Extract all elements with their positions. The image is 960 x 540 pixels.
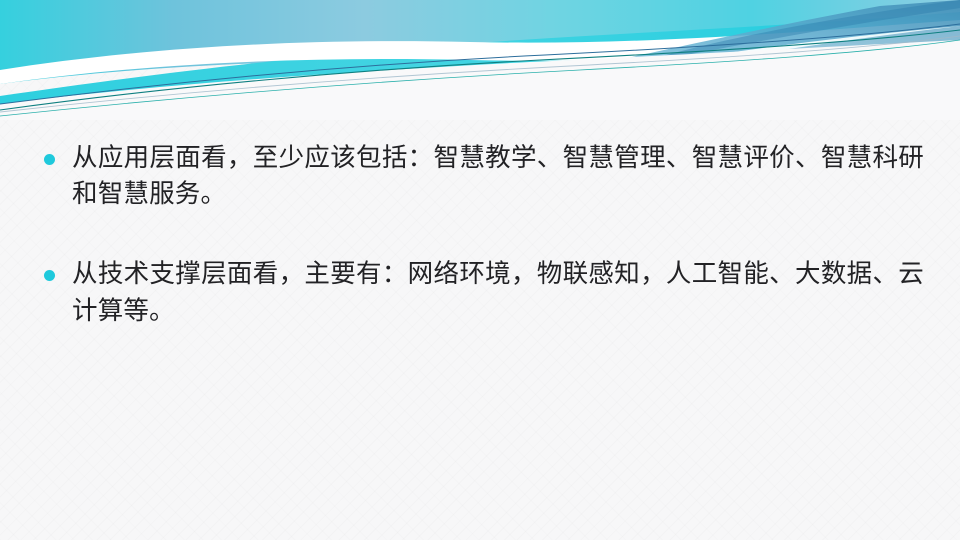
bullet-text: 从技术支撑层面看，主要有：网络环境，物联感知，人工智能、大数据、云计算等。 xyxy=(72,256,924,328)
round-bullet-icon xyxy=(44,270,55,281)
round-bullet-icon xyxy=(44,154,55,165)
slide-canvas: 从应用层面看，至少应该包括：智慧教学、智慧管理、智慧评价、智慧科研和智慧服务。 … xyxy=(0,0,960,540)
bullet-text: 从应用层面看，至少应该包括：智慧教学、智慧管理、智慧评价、智慧科研和智慧服务。 xyxy=(72,140,924,212)
list-item: 从技术支撑层面看，主要有：网络环境，物联感知，人工智能、大数据、云计算等。 xyxy=(44,256,924,328)
list-item: 从应用层面看，至少应该包括：智慧教学、智慧管理、智慧评价、智慧科研和智慧服务。 xyxy=(44,140,924,212)
decorative-wave-banner xyxy=(0,0,960,120)
slide-body: 从应用层面看，至少应该包括：智慧教学、智慧管理、智慧评价、智慧科研和智慧服务。 … xyxy=(44,140,924,329)
